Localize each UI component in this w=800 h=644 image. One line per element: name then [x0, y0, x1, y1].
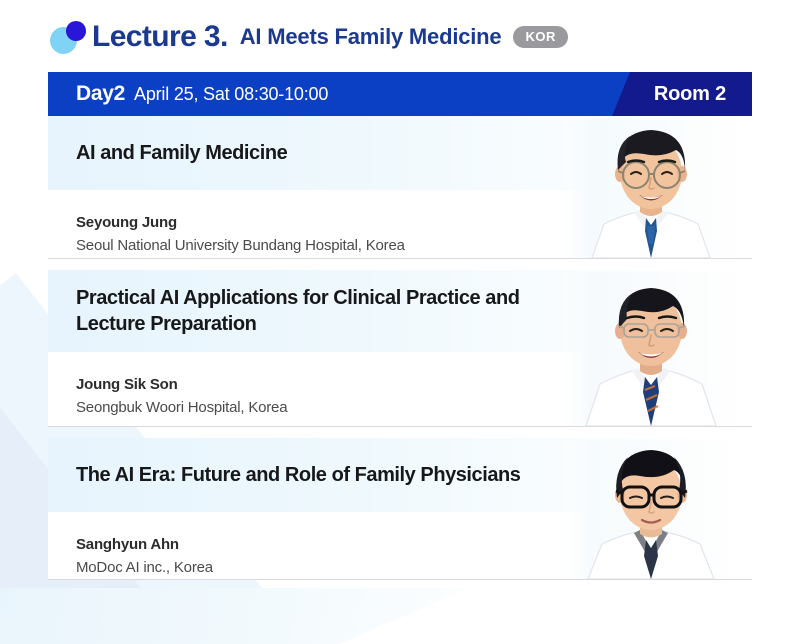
session-schedule: Day2 April 25, Sat 08:30-10:00	[76, 72, 328, 116]
session-room-label: Room 2	[654, 72, 726, 116]
session-title-area: Practical AI Applications for Clinical P…	[48, 270, 752, 352]
session-title-area: AI and Family Medicine	[48, 116, 752, 190]
speaker-affiliation: Seoul National University Bundang Hospit…	[76, 235, 724, 258]
language-badge: KOR	[513, 26, 567, 48]
speaker-affiliation: Seongbuk Woori Hospital, Korea	[76, 397, 724, 420]
session-title: The AI Era: Future and Role of Family Ph…	[48, 462, 720, 488]
page-title: Lecture 3.	[92, 22, 228, 52]
lecture-header: Lecture 3. AI Meets Family Medicine KOR	[48, 12, 568, 62]
speaker-name: Sanghyun Ahn	[76, 534, 724, 557]
card-divider	[48, 258, 752, 259]
session-speaker-area: Sanghyun Ahn MoDoc AI inc., Korea	[48, 512, 752, 580]
session-card[interactable]: AI and Family Medicine Seyoung Jung Seou…	[48, 116, 752, 258]
session-title: Practical AI Applications for Clinical P…	[48, 285, 752, 338]
page-subtitle: AI Meets Family Medicine	[240, 26, 502, 48]
card-divider	[48, 579, 752, 580]
card-divider	[48, 426, 752, 427]
session-title: AI and Family Medicine	[48, 140, 487, 166]
session-card[interactable]: Practical AI Applications for Clinical P…	[48, 270, 752, 426]
session-date-label: April 25, Sat 08:30-10:00	[134, 84, 328, 105]
session-speaker-area: Joung Sik Son Seongbuk Woori Hospital, K…	[48, 352, 752, 426]
session-speaker-area: Seyoung Jung Seoul National University B…	[48, 190, 752, 258]
session-bar: Day2 April 25, Sat 08:30-10:00 Room 2	[48, 72, 752, 116]
session-card[interactable]: The AI Era: Future and Role of Family Ph…	[48, 438, 752, 580]
speaker-affiliation: MoDoc AI inc., Korea	[76, 557, 724, 580]
speaker-name: Seyoung Jung	[76, 212, 724, 235]
speaker-name: Joung Sik Son	[76, 374, 724, 397]
background-bottom-strip	[0, 588, 520, 644]
session-day-label: Day2	[76, 82, 125, 106]
lecture-program-card: Lecture 3. AI Meets Family Medicine KOR …	[0, 0, 800, 644]
two-overlapping-circles-icon	[48, 17, 92, 57]
session-title-area: The AI Era: Future and Role of Family Ph…	[48, 438, 752, 512]
